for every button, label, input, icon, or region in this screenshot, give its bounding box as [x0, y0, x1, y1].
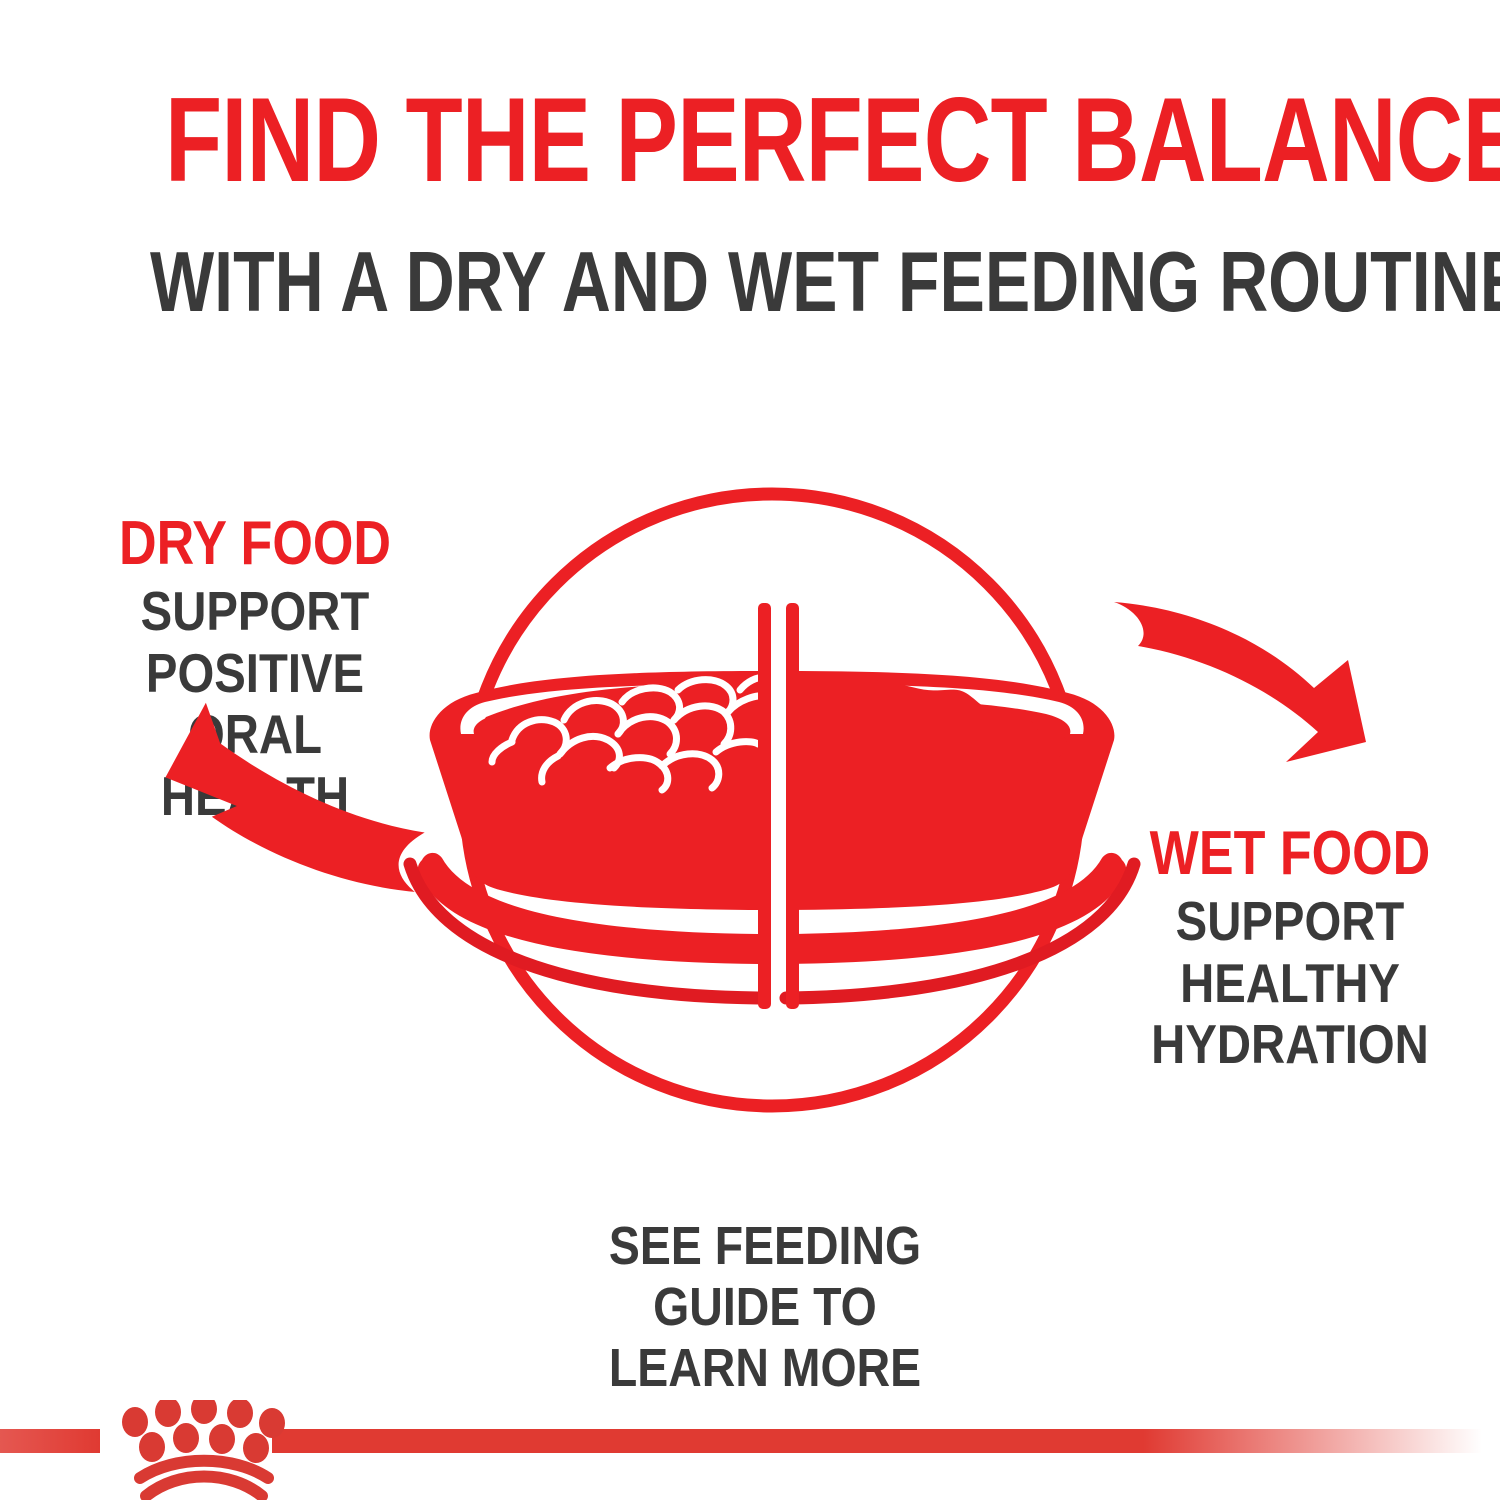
caption-line-2: GUIDE TO	[550, 1277, 980, 1338]
caption-line-3: LEARN MORE	[550, 1338, 980, 1399]
page-title: FIND THE PERFECT BALANCE	[165, 80, 1335, 200]
page-subtitle: WITH A DRY AND WET FEEDING ROUTINE	[150, 240, 1350, 325]
bowl-divider-right-bar	[786, 603, 799, 1009]
footer-rule-left	[0, 1429, 100, 1453]
feeding-guide-caption: SEE FEEDING GUIDE TO LEARN MORE	[550, 1216, 980, 1399]
bowl-divider-left-bar	[758, 603, 771, 1009]
caption-line-1: SEE FEEDING	[550, 1216, 980, 1277]
curved-arrow-down-right-icon	[1114, 602, 1366, 762]
footer-rule-right	[272, 1429, 1482, 1453]
curved-arrow-up-left-icon	[158, 681, 431, 916]
infographic-page: FIND THE PERFECT BALANCE WITH A DRY AND …	[0, 0, 1500, 1500]
royal-canin-crown-logo	[122, 1400, 285, 1496]
bowl-illustration	[140, 440, 1430, 1160]
footer-brand-bar	[0, 1400, 1500, 1500]
